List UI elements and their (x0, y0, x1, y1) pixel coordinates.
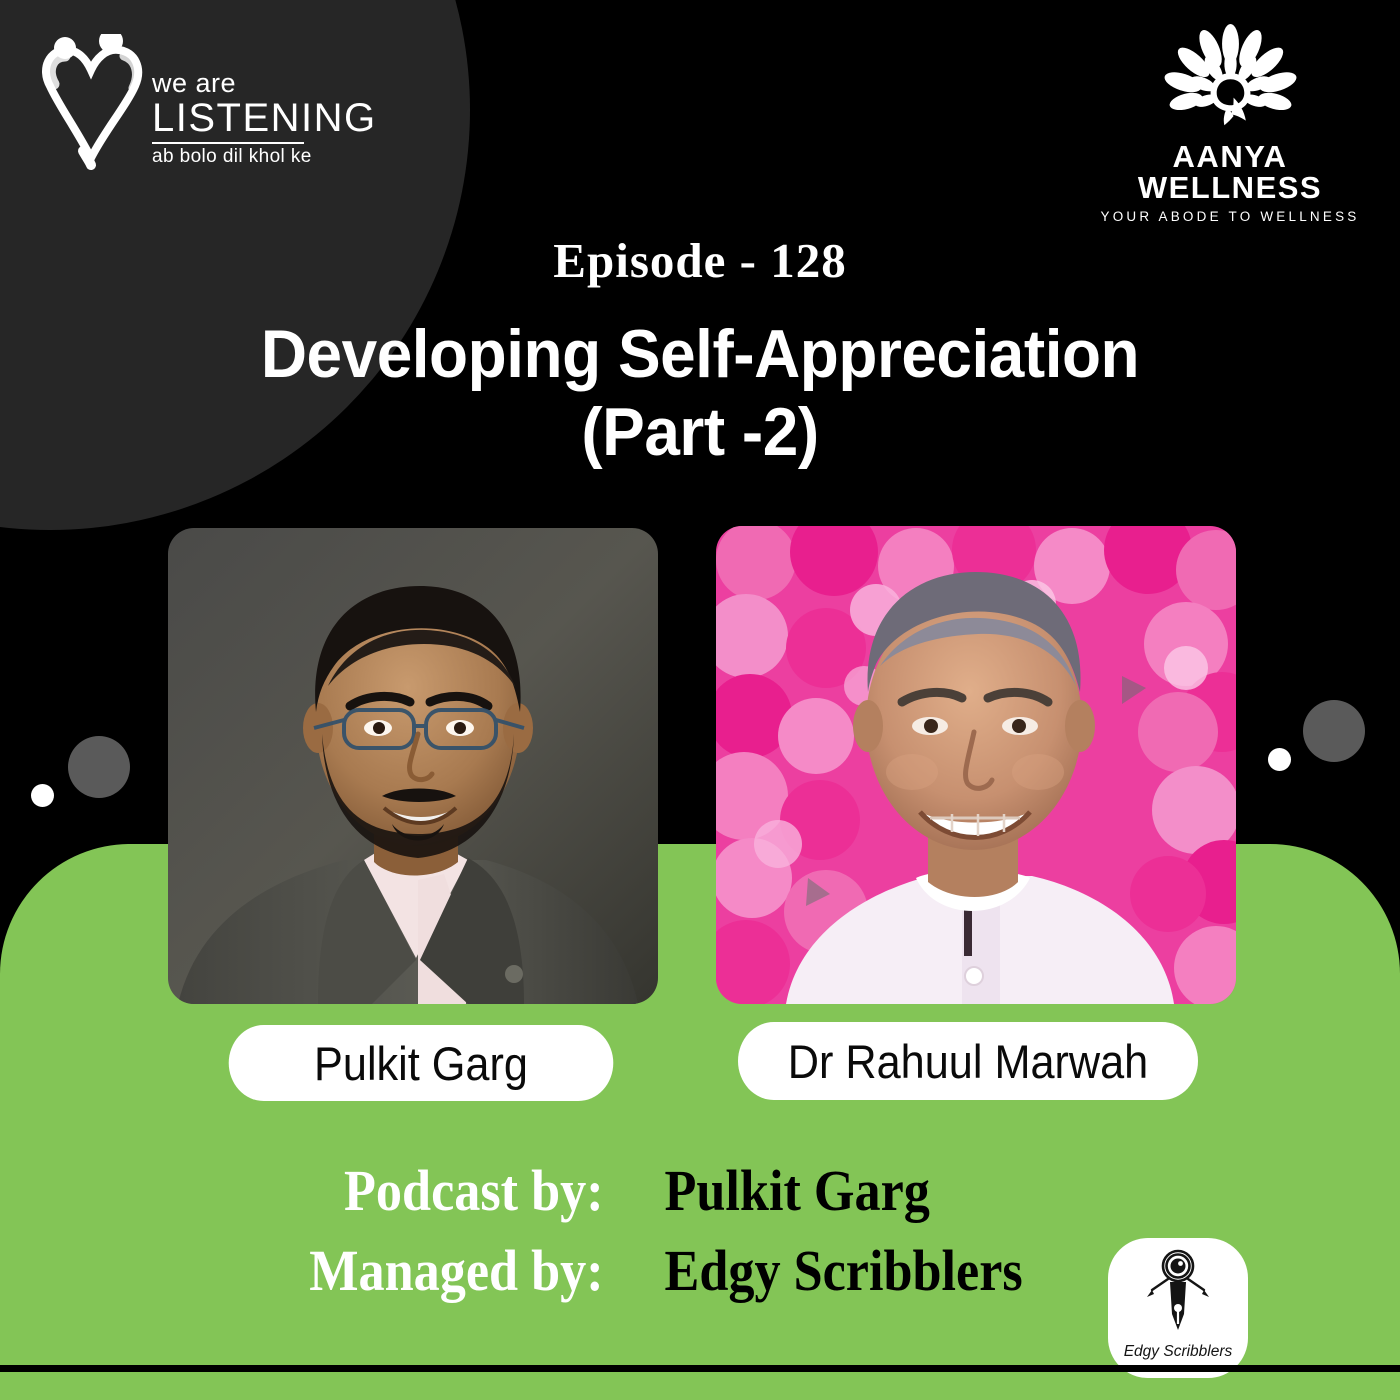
credit-label-podcast-by: Podcast by: (307, 1162, 624, 1220)
guest-name-pill-1: Pulkit Garg (229, 1025, 614, 1101)
decorative-dot-gray-left (68, 736, 130, 798)
logo-line-2: LISTENING (152, 97, 377, 139)
aanya-wellness-tagline: YOUR ABODE TO WELLNESS (1100, 210, 1360, 224)
credit-value-podcast-by: Pulkit Garg (665, 1162, 1088, 1220)
aanya-wellness-logo: AANYA WELLNESS YOUR ABODE TO WELLNESS (1100, 24, 1360, 209)
credit-label-managed-by: Managed by: (307, 1242, 624, 1300)
credit-value-managed-by: Edgy Scribblers (665, 1242, 1088, 1300)
episode-label: Episode - 128 (0, 232, 1400, 289)
logo-tagline: ab bolo dil khol ke (152, 147, 377, 166)
decorative-dot-gray-right (1303, 700, 1365, 762)
title-line-2: (Part -2) (136, 393, 1264, 471)
guest-name-label-1: Pulkit Garg (314, 1036, 528, 1091)
guest-name-label-2: Dr Rahuul Marwah (788, 1034, 1148, 1089)
page-title: Developing Self-Appreciation (Part -2) (136, 315, 1264, 471)
podcast-cover: we are LISTENING ab bolo dil khol ke (0, 0, 1400, 1400)
pen-nib-with-eye-icon: Edgy Scribblers (1108, 1238, 1248, 1378)
edgy-scribblers-badge-text: Edgy Scribblers (1124, 1343, 1233, 1360)
decorative-dot-white-right (1268, 748, 1291, 771)
aanya-wellness-name: AANYA WELLNESS (1100, 141, 1360, 203)
credit-row-podcast-by: Podcast by: Pulkit Garg (0, 1162, 1400, 1220)
guest-photo-pulkit-garg (168, 528, 658, 1004)
we-are-listening-logo: we are LISTENING ab bolo dil khol ke (34, 30, 294, 180)
lotus-tree-meditation-icon (1153, 24, 1308, 139)
man-in-gray-suit-photo (168, 528, 658, 1004)
heart-with-two-people-icon (34, 34, 149, 174)
title-line-1: Developing Self-Appreciation (136, 315, 1264, 393)
bottom-divider (0, 1365, 1400, 1372)
decorative-dot-white-left (31, 784, 54, 807)
guest-photo-dr-rahuul-marwah (716, 526, 1236, 1004)
logo-line-1: we are (152, 70, 377, 97)
edgy-scribblers-badge: Edgy Scribblers (1108, 1238, 1248, 1378)
guest-name-pill-2: Dr Rahuul Marwah (738, 1022, 1198, 1100)
man-in-white-kurta-pink-flowers-photo (716, 526, 1236, 1004)
logo-divider (152, 142, 304, 144)
